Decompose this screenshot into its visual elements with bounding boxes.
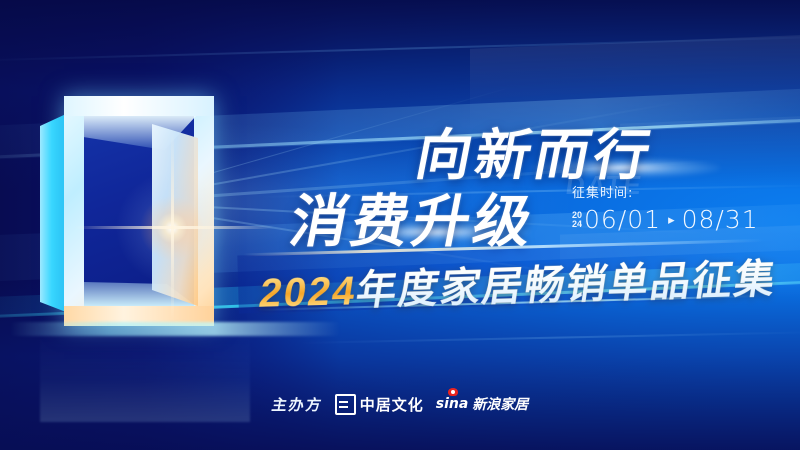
promo-banner: 向新而行 消费升级 DATE 征集时间: 20 24 06/01 ▸ 08/31…: [0, 0, 800, 450]
footer-sponsors: 主办方 中居文化 sina 新浪家居: [0, 390, 800, 418]
sponsor-sina[interactable]: sina 新浪家居: [436, 394, 529, 414]
date-year-stack: 20 24: [572, 211, 584, 229]
sponsor-zhongju-name: 中居文化: [360, 394, 424, 415]
door-frame-top: [64, 96, 214, 116]
date-start: 06/01: [584, 205, 661, 234]
organizer-label: 主办方: [270, 394, 325, 415]
zhongju-logo-icon: [335, 394, 356, 415]
gold-title-bar: 2024年度家居畅销单品征集: [237, 240, 778, 313]
open-door-portal-icon: [40, 96, 240, 326]
door-left-edge: [40, 114, 66, 312]
date-separator-icon: ▸: [668, 212, 675, 228]
star-burst-horizontal: [74, 226, 274, 229]
sina-logo: sina: [436, 395, 469, 413]
sponsor-sina-name: 新浪家居: [472, 394, 528, 414]
sina-eye-icon: [448, 388, 458, 396]
sponsor-zhongju[interactable]: 中居文化: [335, 394, 424, 415]
star-burst-vertical: [171, 132, 174, 322]
date-year-bottom: 24: [572, 220, 582, 229]
gold-title-year: 2024: [256, 269, 359, 316]
gold-title-label: 年度家居畅销单品征集: [353, 257, 779, 313]
date-range-row: 20 24 06/01 ▸ 08/31: [572, 205, 772, 234]
date-label: 征集时间:: [572, 182, 772, 201]
date-end: 08/31: [682, 205, 759, 234]
sina-wordmark: sina: [436, 396, 469, 412]
submission-date-block: DATE 征集时间: 20 24 06/01 ▸ 08/31: [572, 182, 772, 234]
